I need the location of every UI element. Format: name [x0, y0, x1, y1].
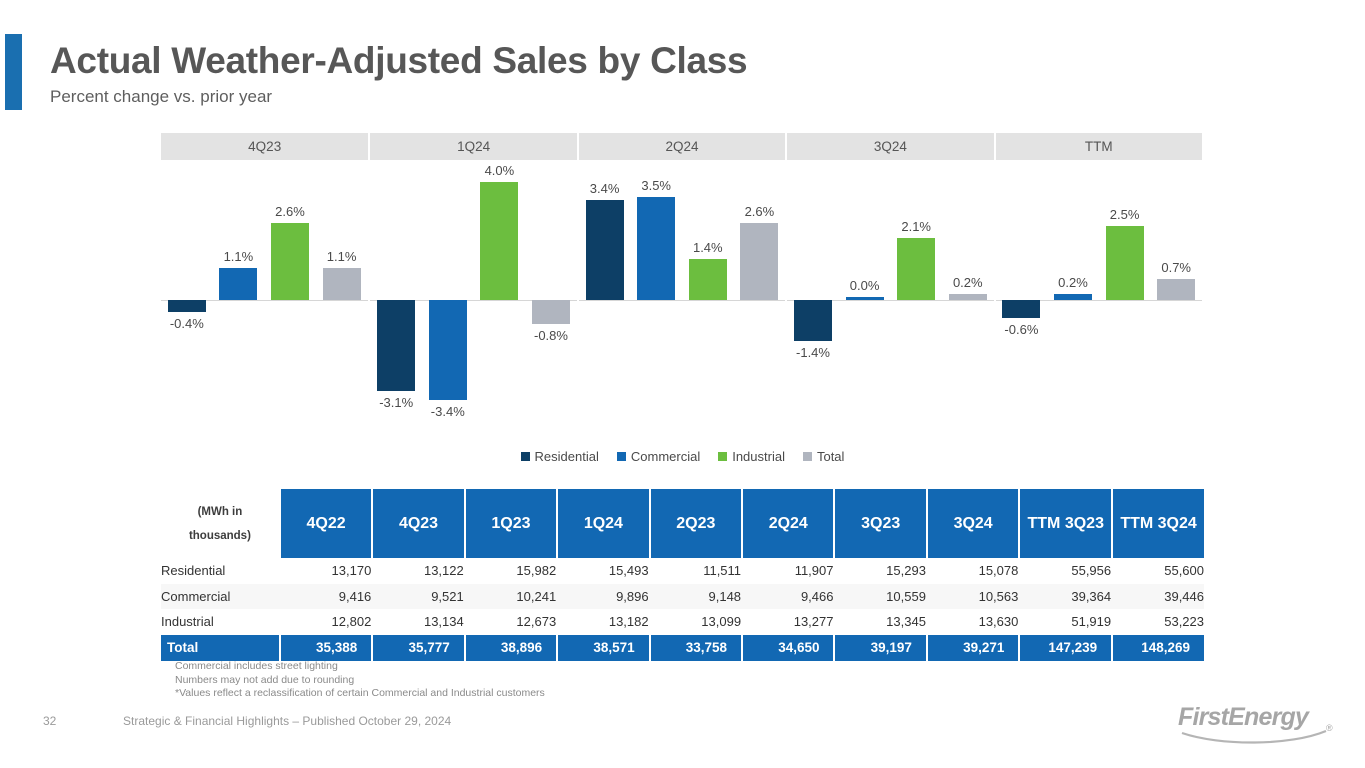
bar-label-total-4q23: 1.1%	[306, 249, 378, 264]
bar-label-industrial-3q24: 2.1%	[880, 219, 952, 234]
table-row: Residential13,17013,12215,98215,49311,51…	[161, 558, 1204, 584]
chart-panel-1q24: 1Q24-3.1%-3.4%4.0%-0.8%	[370, 133, 576, 415]
panel-header-1q24: 1Q24	[370, 133, 576, 160]
bar-label-commercial-4q23: 1.1%	[202, 249, 274, 264]
bar-industrial-2q24	[689, 259, 727, 300]
cell-industrial-4q23: 13,134	[371, 609, 463, 635]
legend-label: Commercial	[631, 449, 700, 464]
chart-panel-3q24: 3Q24-1.4%0.0%2.1%0.2%	[787, 133, 993, 415]
page-subtitle: Percent change vs. prior year	[50, 87, 272, 107]
chart-legend: ResidentialCommercialIndustrialTotal	[0, 449, 1365, 464]
cell-residential-4q22: 13,170	[279, 558, 371, 584]
panel-header-2q24: 2Q24	[579, 133, 785, 160]
panel-header-3q24: 3Q24	[787, 133, 993, 160]
table-column-header-2q23: 2Q23	[649, 489, 741, 558]
row-label-residential: Residential	[161, 558, 279, 584]
cell-industrial-1q23: 12,673	[464, 609, 556, 635]
legend-swatch-icon	[718, 452, 727, 461]
cell-total-4q23: 35,777	[371, 635, 463, 661]
zero-baseline	[579, 300, 785, 301]
bar-commercial-1q24	[429, 300, 467, 400]
bar-residential-2q24	[586, 200, 624, 300]
bar-industrial-ttm	[1106, 226, 1144, 300]
row-label-commercial: Commercial	[161, 584, 279, 610]
bar-commercial-3q24	[846, 297, 884, 300]
panel-plot-area: 3.4%3.5%1.4%2.6%	[579, 161, 785, 415]
logo-text: FirstEnergy	[1178, 703, 1308, 732]
legend-label: Total	[817, 449, 844, 464]
bar-total-4q23	[323, 268, 361, 300]
table-column-header-4q22: 4Q22	[279, 489, 371, 558]
bar-industrial-4q23	[271, 223, 309, 300]
panel-header-4q23: 4Q23	[161, 133, 368, 160]
cell-total-ttm-3q24: 148,269	[1111, 635, 1204, 661]
cell-total-3q24: 39,271	[926, 635, 1018, 661]
cell-residential-3q24: 15,078	[926, 558, 1018, 584]
footnote-line-1: Commercial includes street lighting	[175, 660, 545, 674]
cell-residential-2q23: 11,511	[649, 558, 741, 584]
cell-commercial-3q23: 10,559	[833, 584, 925, 610]
cell-commercial-4q23: 9,521	[371, 584, 463, 610]
footnotes: Commercial includes street lightingNumbe…	[175, 660, 545, 701]
bar-industrial-3q24	[897, 238, 935, 300]
cell-industrial-3q23: 13,345	[833, 609, 925, 635]
sales-by-class-chart: 4Q23-0.4%1.1%2.6%1.1%1Q24-3.1%-3.4%4.0%-…	[161, 133, 1203, 415]
table-column-header-3q24: 3Q24	[926, 489, 1018, 558]
bar-label-industrial-1q24: 4.0%	[463, 163, 535, 178]
bar-label-commercial-2q24: 3.5%	[620, 178, 692, 193]
cell-total-3q23: 39,197	[833, 635, 925, 661]
firstenergy-logo: FirstEnergy ®	[1178, 703, 1338, 745]
cell-residential-4q23: 13,122	[371, 558, 463, 584]
table-column-header-1q23: 1Q23	[464, 489, 556, 558]
cell-industrial-1q24: 13,182	[556, 609, 648, 635]
panel-header-label: 3Q24	[874, 139, 907, 154]
cell-total-1q24: 38,571	[556, 635, 648, 661]
cell-residential-1q23: 15,982	[464, 558, 556, 584]
cell-commercial-4q22: 9,416	[279, 584, 371, 610]
bar-label-industrial-2q24: 1.4%	[672, 240, 744, 255]
legend-swatch-icon	[617, 452, 626, 461]
table-unit-label: (MWh in thousands)	[161, 489, 279, 558]
bar-label-commercial-1q24: -3.4%	[412, 404, 484, 419]
cell-commercial-1q24: 9,896	[556, 584, 648, 610]
legend-item-industrial: Industrial	[718, 449, 785, 464]
cell-residential-2q24: 11,907	[741, 558, 833, 584]
footer-note: Strategic & Financial Highlights – Publi…	[123, 714, 451, 728]
cell-commercial-ttm-3q23: 39,364	[1018, 584, 1111, 610]
legend-swatch-icon	[521, 452, 530, 461]
panel-header-label: TTM	[1085, 139, 1113, 154]
cell-industrial-2q24: 13,277	[741, 609, 833, 635]
bar-commercial-4q23	[219, 268, 257, 300]
cell-commercial-ttm-3q24: 39,446	[1111, 584, 1204, 610]
panel-plot-area: -3.1%-3.4%4.0%-0.8%	[370, 161, 576, 415]
cell-industrial-ttm-3q23: 51,919	[1018, 609, 1111, 635]
page-title: Actual Weather-Adjusted Sales by Class	[50, 40, 747, 82]
bar-label-total-2q24: 2.6%	[723, 204, 795, 219]
cell-total-2q23: 33,758	[649, 635, 741, 661]
bar-label-industrial-ttm: 2.5%	[1089, 207, 1161, 222]
bar-total-2q24	[740, 223, 778, 300]
slide: Actual Weather-Adjusted Sales by Class P…	[0, 0, 1365, 768]
table-column-header-ttm-3q23: TTM 3Q23	[1018, 489, 1111, 558]
bar-residential-ttm	[1002, 300, 1040, 318]
bar-commercial-2q24	[637, 197, 675, 300]
cell-commercial-2q24: 9,466	[741, 584, 833, 610]
bar-commercial-ttm	[1054, 294, 1092, 300]
bar-label-residential-ttm: -0.6%	[985, 322, 1057, 337]
footnote-line-3: *Values reflect a reclassification of ce…	[175, 687, 545, 701]
cell-residential-1q24: 15,493	[556, 558, 648, 584]
unit-label-line2: thousands)	[161, 524, 279, 548]
bar-label-residential-4q23: -0.4%	[151, 316, 223, 331]
table-column-header-3q23: 3Q23	[833, 489, 925, 558]
cell-commercial-2q23: 9,148	[649, 584, 741, 610]
cell-commercial-3q24: 10,563	[926, 584, 1018, 610]
legend-label: Industrial	[732, 449, 785, 464]
bar-total-3q24	[949, 294, 987, 300]
bar-total-ttm	[1157, 279, 1195, 300]
cell-industrial-3q24: 13,630	[926, 609, 1018, 635]
panel-plot-area: -1.4%0.0%2.1%0.2%	[787, 161, 993, 415]
row-label-total: Total	[161, 635, 279, 661]
table-total-row: Total35,38835,77738,89638,57133,75834,65…	[161, 635, 1204, 661]
bar-label-industrial-4q23: 2.6%	[254, 204, 326, 219]
cell-total-2q24: 34,650	[741, 635, 833, 661]
bar-residential-4q23	[168, 300, 206, 312]
cell-total-4q22: 35,388	[279, 635, 371, 661]
table-row: Commercial9,4169,52110,2419,8969,1489,46…	[161, 584, 1204, 610]
cell-industrial-2q23: 13,099	[649, 609, 741, 635]
bar-label-commercial-ttm: 0.2%	[1037, 275, 1109, 290]
bar-label-total-1q24: -0.8%	[515, 328, 587, 343]
cell-residential-ttm-3q23: 55,956	[1018, 558, 1111, 584]
cell-industrial-ttm-3q24: 53,223	[1111, 609, 1204, 635]
cell-industrial-4q22: 12,802	[279, 609, 371, 635]
bar-label-total-ttm: 0.7%	[1140, 260, 1212, 275]
bar-label-residential-3q24: -1.4%	[777, 345, 849, 360]
sales-data-table: (MWh in thousands) 4Q224Q231Q231Q242Q232…	[161, 489, 1204, 661]
table-column-header-2q24: 2Q24	[741, 489, 833, 558]
footnote-line-2: Numbers may not add due to rounding	[175, 674, 545, 688]
legend-item-residential: Residential	[521, 449, 599, 464]
bar-label-commercial-3q24: 0.0%	[829, 278, 901, 293]
bar-residential-1q24	[377, 300, 415, 391]
cell-total-ttm-3q23: 147,239	[1018, 635, 1111, 661]
panel-header-label: 4Q23	[248, 139, 281, 154]
table-column-header-1q24: 1Q24	[556, 489, 648, 558]
table-row: Industrial12,80213,13412,67313,18213,099…	[161, 609, 1204, 635]
legend-label: Residential	[535, 449, 599, 464]
bar-total-1q24	[532, 300, 570, 324]
panel-plot-area: -0.4%1.1%2.6%1.1%	[161, 161, 368, 415]
legend-item-commercial: Commercial	[617, 449, 700, 464]
title-accent-bar	[5, 34, 22, 110]
cell-residential-ttm-3q24: 55,600	[1111, 558, 1204, 584]
table-header-row: (MWh in thousands) 4Q224Q231Q231Q242Q232…	[161, 489, 1204, 558]
cell-residential-3q23: 15,293	[833, 558, 925, 584]
unit-label-line1: (MWh in	[161, 500, 279, 524]
panel-header-label: 2Q24	[665, 139, 698, 154]
panel-plot-area: -0.6%0.2%2.5%0.7%	[996, 161, 1202, 415]
row-label-industrial: Industrial	[161, 609, 279, 635]
panel-header-ttm: TTM	[996, 133, 1202, 160]
cell-commercial-1q23: 10,241	[464, 584, 556, 610]
bar-label-total-3q24: 0.2%	[932, 275, 1004, 290]
bar-residential-3q24	[794, 300, 832, 341]
chart-panel-ttm: TTM-0.6%0.2%2.5%0.7%	[996, 133, 1202, 415]
chart-panel-4q23: 4Q23-0.4%1.1%2.6%1.1%	[161, 133, 368, 415]
legend-swatch-icon	[803, 452, 812, 461]
logo-swoosh-icon	[1180, 729, 1340, 747]
bar-industrial-1q24	[480, 182, 518, 300]
page-number: 32	[43, 714, 56, 728]
cell-total-1q23: 38,896	[464, 635, 556, 661]
panel-header-label: 1Q24	[457, 139, 490, 154]
table-column-header-ttm-3q24: TTM 3Q24	[1111, 489, 1204, 558]
legend-item-total: Total	[803, 449, 844, 464]
chart-panel-2q24: 2Q243.4%3.5%1.4%2.6%	[579, 133, 785, 415]
table-column-header-4q23: 4Q23	[371, 489, 463, 558]
